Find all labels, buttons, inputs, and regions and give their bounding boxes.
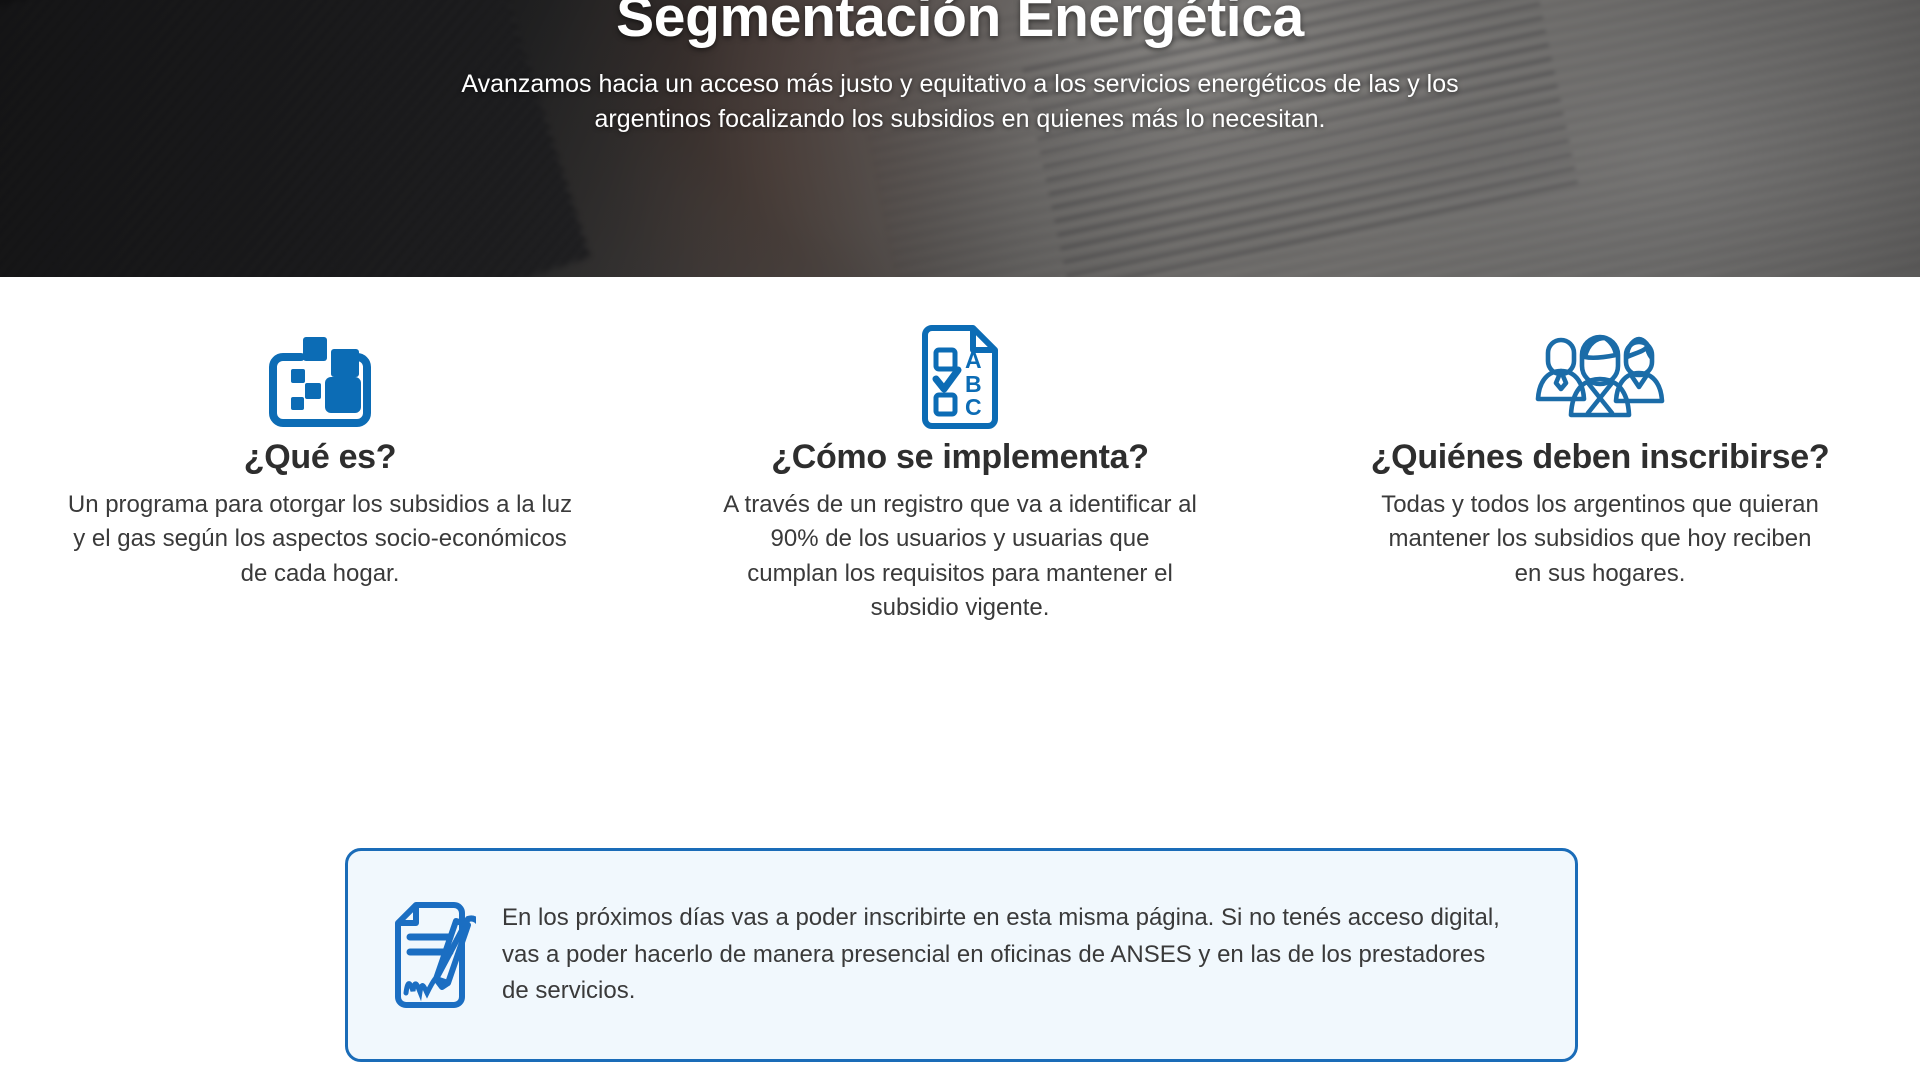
feature-card-quienes-deben-inscribirse: ¿Quiénes deben inscribirse? Todas y todo… bbox=[1280, 277, 1920, 626]
checklist-document-icon: A B C bbox=[672, 277, 1248, 437]
page-title: Segmentación Energética bbox=[0, 0, 1920, 50]
callout-text: En los próximos días vas a poder inscrib… bbox=[502, 900, 1502, 1009]
three-people-group-icon bbox=[1312, 277, 1888, 437]
checklist-label-c: C bbox=[965, 394, 982, 420]
registration-notice-callout: En los próximos días vas a poder inscrib… bbox=[345, 848, 1578, 1062]
feature-body: Todas y todos los argentinos que quieran… bbox=[1375, 488, 1825, 592]
feature-body: A través de un registro que va a identif… bbox=[723, 488, 1198, 626]
page-root: Segmentación Energética Avanzamos hacia … bbox=[0, 0, 1920, 1080]
checklist-label-a: A bbox=[965, 347, 982, 373]
hero-content: Segmentación Energética Avanzamos hacia … bbox=[0, 0, 1920, 138]
feature-columns: ¿Qué es? Un programa para otorgar los su… bbox=[0, 277, 1920, 626]
feature-card-que-es: ¿Qué es? Un programa para otorgar los su… bbox=[0, 277, 640, 626]
feature-title: ¿Quiénes deben inscribirse? bbox=[1312, 437, 1888, 478]
feature-title: ¿Qué es? bbox=[32, 437, 608, 478]
data-squares-card-icon bbox=[32, 277, 608, 437]
hero-banner: Segmentación Energética Avanzamos hacia … bbox=[0, 0, 1920, 277]
feature-title: ¿Cómo se implementa? bbox=[672, 437, 1248, 478]
signed-document-pen-icon bbox=[372, 897, 480, 1013]
feature-card-como-se-implementa: A B C ¿Cómo se implementa? A través de u… bbox=[640, 277, 1280, 626]
feature-body: Un programa para otorgar los subsidios a… bbox=[68, 488, 573, 592]
hero-subtitle: Avanzamos hacia un acceso más justo y eq… bbox=[410, 67, 1510, 138]
